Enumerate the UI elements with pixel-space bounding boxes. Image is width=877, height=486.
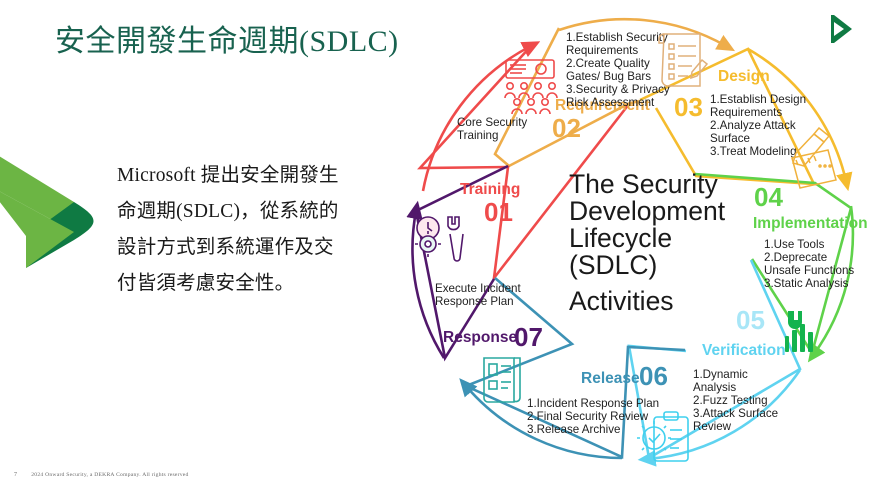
center-title-line-4: (SDLC)	[569, 250, 657, 280]
body-line-2: 命週期(SDLC)，從系統的	[117, 194, 382, 230]
body-line-4: 付皆須考慮安全性。	[117, 266, 382, 302]
stage-implementation-label: Implementation	[753, 215, 868, 232]
stage-training-note-1: Core Security	[457, 116, 527, 129]
stage-response-label: Response	[443, 329, 517, 346]
stage-requirement-item-6: Risk Assessment	[566, 96, 655, 109]
stage-verification[interactable]: Verification 05 1.Dynamic Analysis 2.Fuz…	[693, 305, 813, 433]
stage-requirement-item-4: Gates/ Bug Bars	[566, 70, 651, 83]
center-title: The Security Development Lifecycle (SDLC…	[569, 169, 726, 316]
stage-requirement-item-1: 1.Establish Security	[566, 31, 668, 44]
body-line-1: Microsoft 提出安全開發生	[117, 158, 382, 194]
stage-implementation-number: 04	[754, 182, 783, 212]
stage-release-item-3: 3.Release Archive	[527, 423, 620, 436]
stage-response-note-2: Response Plan	[435, 295, 514, 308]
stage-implementation[interactable]: Implementation 04 1.Use Tools 2.Deprecat…	[753, 182, 868, 290]
audience-presentation-icon	[505, 60, 557, 114]
stage-verification-number: 05	[736, 305, 765, 335]
slide-root: 安全開發生命週期(SDLC) Microsoft 提出安全開發生 命週期(SDL…	[0, 0, 877, 486]
stage-training-label: Training	[460, 181, 520, 198]
stage-design-label: Design	[718, 68, 770, 85]
stage-release-label: Release	[581, 370, 640, 387]
sdlc-cycle-diagram: The Security Development Lifecycle (SDLC…	[396, 6, 877, 482]
footer: 7 2024 Onward Security, a DEKRA Company.…	[14, 472, 189, 478]
stage-response-note-1: Execute Incident	[435, 282, 521, 295]
center-subtitle: Activities	[569, 286, 674, 316]
center-title-line-2: Development	[569, 196, 726, 226]
stage-design-number: 03	[674, 92, 703, 122]
footer-copyright: 2024 Onward Security, a DEKRA Company. A…	[31, 472, 188, 478]
body-paragraph: Microsoft 提出安全開發生 命週期(SDLC)，從系統的 設計方式到系統…	[117, 158, 382, 302]
stage-design-item-2: Requirements	[710, 106, 782, 119]
stage-requirement[interactable]: Requirement 02 1.Establish Security Requ…	[552, 31, 707, 143]
stage-requirement-item-3: 2.Create Quality	[566, 57, 650, 70]
stage-verification-item-1: 1.Dynamic	[693, 368, 748, 381]
stage-implementation-item-1: 1.Use Tools	[764, 238, 825, 251]
stage-design-item-3: 2.Analyze Attack	[710, 119, 796, 132]
stage-verification-label: Verification	[702, 342, 786, 359]
stage-design-item-4: Surface	[710, 132, 750, 145]
stage-implementation-item-3: Unsafe Functions	[764, 264, 854, 277]
stage-training-number: 01	[484, 197, 513, 227]
stage-release-item-2: 2.Final Security Review	[527, 410, 649, 423]
footer-page-number: 7	[14, 472, 17, 478]
stage-verification-item-2: Analysis	[693, 381, 736, 394]
stage-design-item-1: 1.Establish Design	[710, 93, 806, 106]
decorative-chevron-icon	[0, 140, 128, 270]
stage-implementation-item-4: 3.Static Analysis	[764, 277, 849, 290]
stage-response-number: 07	[514, 322, 543, 352]
stage-release-number: 06	[639, 361, 668, 391]
stage-verification-item-4: 3.Attack Surface	[693, 407, 778, 420]
clock-wrench-icon	[415, 217, 463, 261]
stage-training-note-2: Training	[457, 129, 498, 142]
stage-requirement-item-2: Requirements	[566, 44, 638, 57]
stage-design-item-5: 3.Treat Modeling	[710, 145, 797, 158]
stage-verification-item-5: Review	[693, 420, 732, 433]
center-title-line-3: Lifecycle	[569, 223, 672, 253]
page-title: 安全開發生命週期(SDLC)	[55, 16, 399, 60]
body-line-3: 設計方式到系統運作及交	[117, 230, 382, 266]
center-title-line-1: The Security	[569, 169, 719, 199]
stage-requirement-item-5: 3.Security & Privacy	[566, 83, 670, 96]
stage-requirement-number: 02	[552, 113, 581, 143]
stage-implementation-item-2: 2.Deprecate	[764, 251, 827, 264]
stage-release-item-1: 1.Incident Response Plan	[527, 397, 659, 410]
stage-verification-item-3: 2.Fuzz Testing	[693, 394, 768, 407]
stage-training[interactable]: Training 01 Core Security Training	[457, 60, 557, 227]
